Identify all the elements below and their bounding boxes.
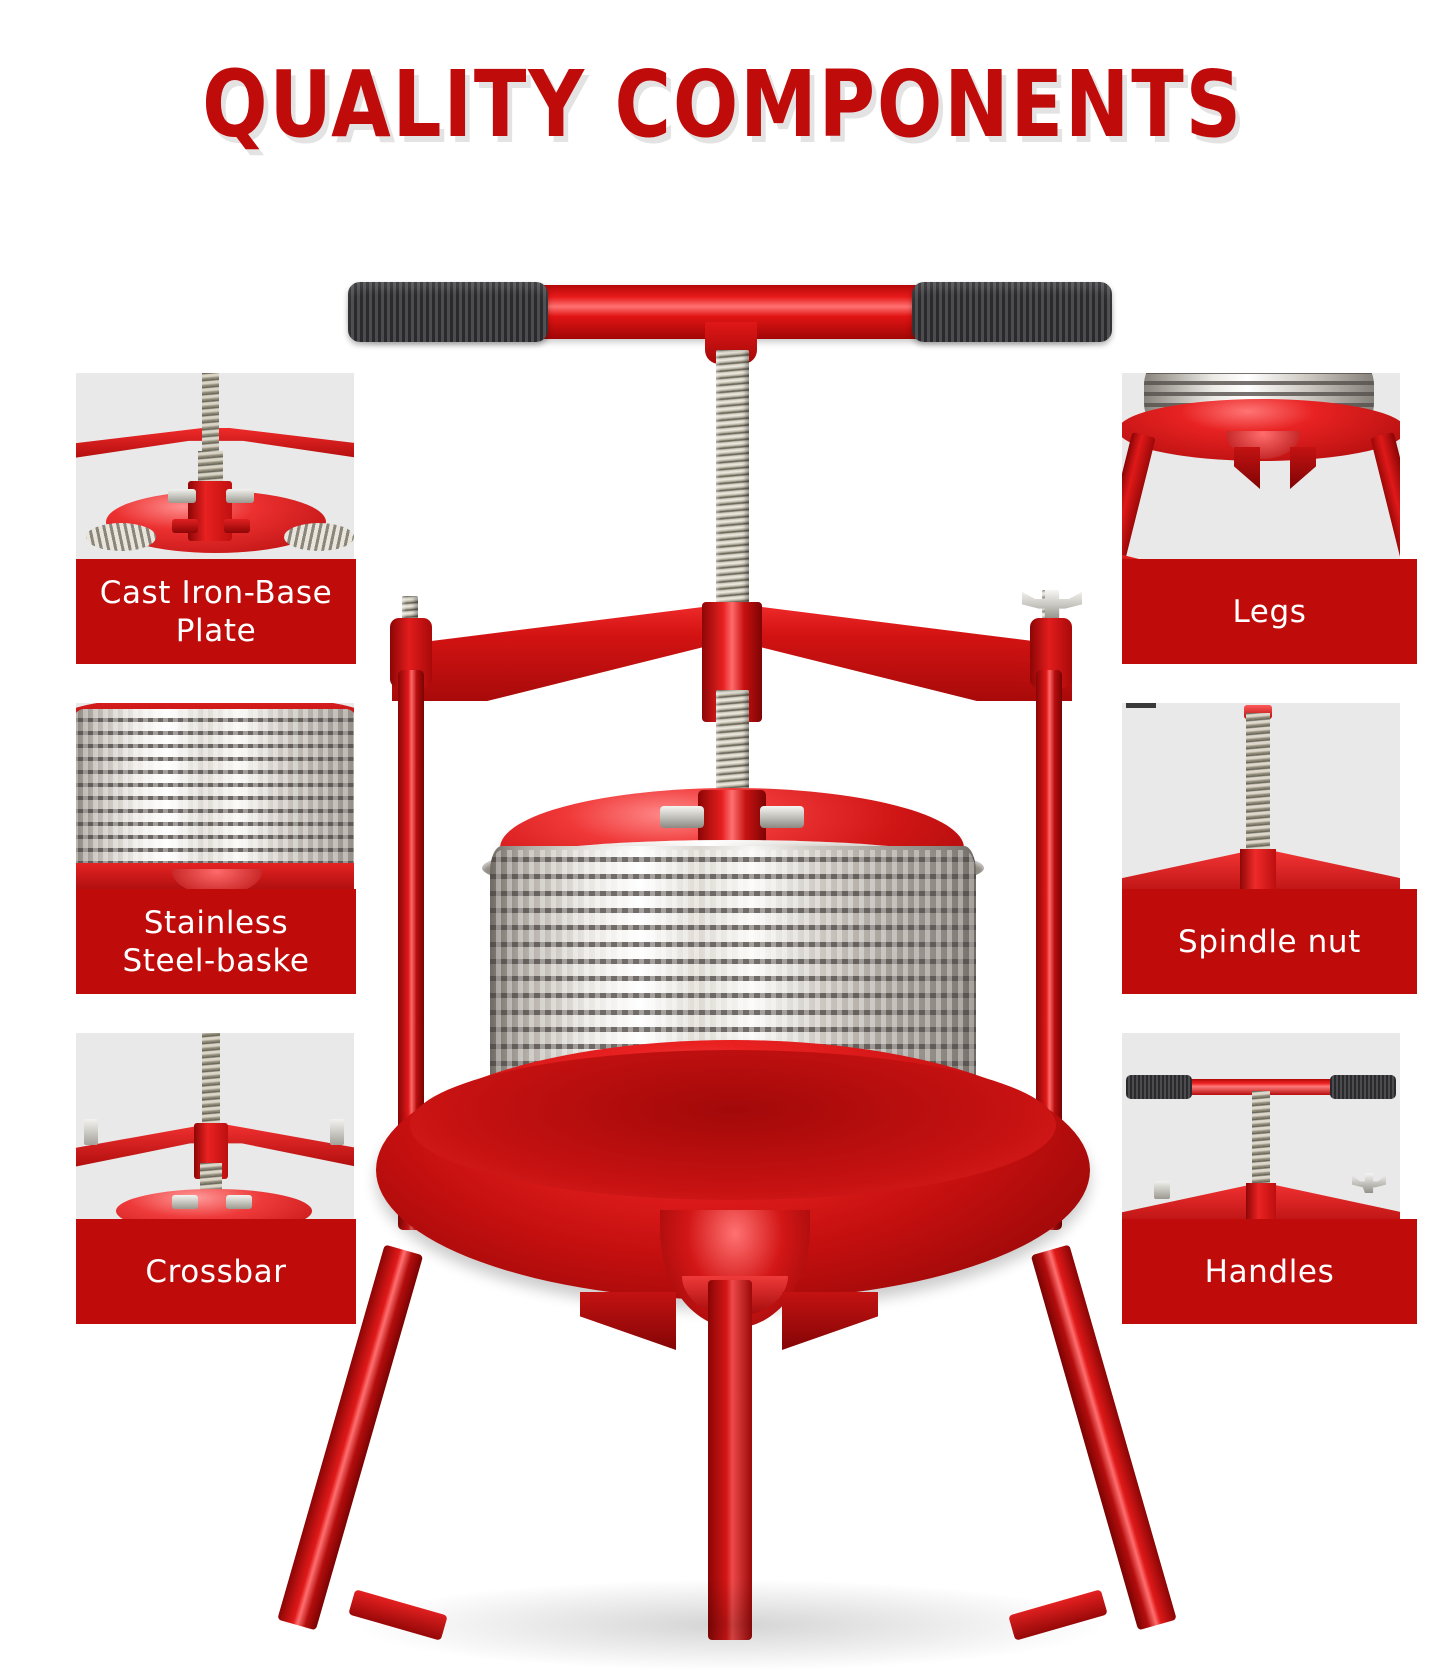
feature-label-legs: Legs — [1122, 559, 1417, 664]
feature-label-line1: Spindle nut — [1178, 923, 1361, 961]
feature-label-line1: Legs — [1232, 593, 1306, 631]
feature-thumb-cast-iron-base-plate — [76, 373, 354, 568]
feature-label-line2: Steel-baske — [122, 943, 309, 979]
page-title: QUALITY COMPONENTS — [51, 55, 1395, 155]
feature-label-cast-iron-base-plate: Cast Iron-Base Plate — [76, 559, 356, 664]
feature-label-spindle-nut: Spindle nut — [1122, 889, 1417, 994]
feature-label-line1: Crossbar — [145, 1253, 286, 1291]
feature-thumb-handles — [1122, 1033, 1400, 1228]
feature-thumb-legs — [1122, 373, 1400, 568]
leg-gusset-right — [782, 1292, 878, 1350]
feature-label-handles: Handles — [1122, 1219, 1417, 1324]
floor-shadow — [360, 1580, 1100, 1670]
press-plate-bolt-right — [760, 806, 804, 828]
spindle-lower — [716, 690, 749, 800]
feature-label-stainless-steel-basket: Stainless Steel-baske — [76, 889, 356, 994]
feature-thumb-spindle-nut — [1122, 703, 1400, 898]
spindle-upper — [716, 350, 749, 625]
press-plate-bolt-left — [660, 806, 704, 828]
feature-label-line1: Stainless — [144, 905, 288, 941]
feature-label-line1: Cast Iron-Base — [100, 575, 333, 611]
feature-label-line2: Plate — [176, 613, 257, 649]
handle-grip-right — [912, 282, 1112, 342]
feature-thumb-crossbar — [76, 1033, 354, 1228]
product-hero-image — [330, 250, 1130, 1430]
feature-label-line1: Handles — [1205, 1253, 1335, 1291]
handle-grip-left — [348, 282, 548, 342]
feature-thumb-stainless-steel-basket — [76, 703, 354, 898]
juice-tray-cavity — [410, 1050, 1056, 1200]
feature-label-crossbar: Crossbar — [76, 1219, 356, 1324]
leg-gusset-left — [580, 1292, 676, 1350]
wing-nut — [1022, 590, 1082, 620]
